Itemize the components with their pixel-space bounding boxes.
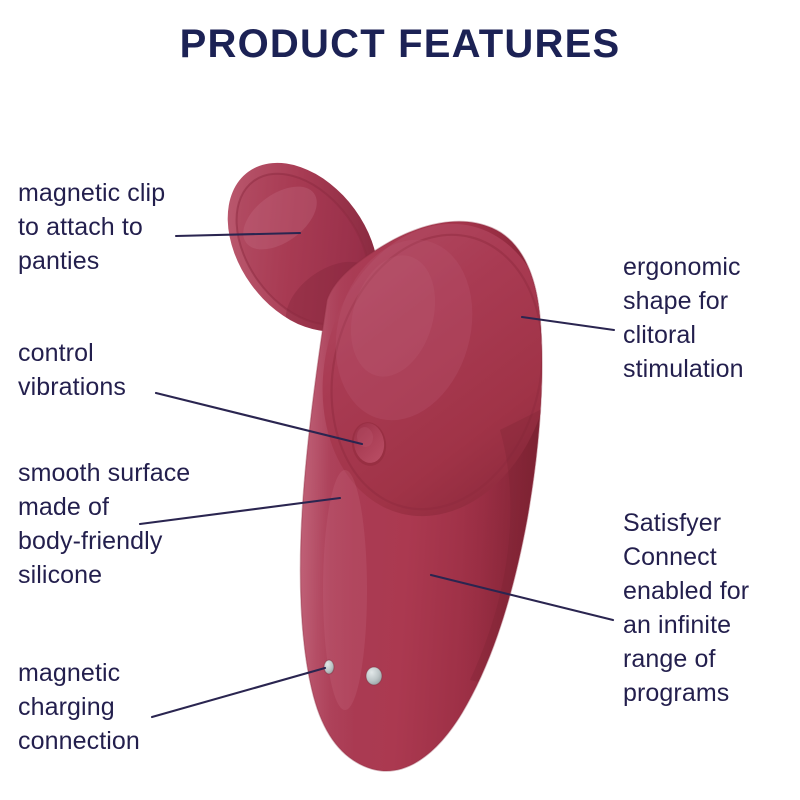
callout-satisfyer-connect: Satisfyer Connect enabled for an infinit… (623, 506, 749, 710)
callout-smooth-surface: smooth surface made of body-friendly sil… (18, 456, 190, 592)
callout-control-vibrations: control vibrations (18, 336, 126, 404)
callout-magnetic-charging: magnetic charging connection (18, 656, 140, 758)
charging-contact-left (324, 660, 334, 674)
main-body (293, 199, 582, 800)
callout-ergonomic-shape: ergonomic shape for clitoral stimulation (623, 250, 744, 386)
product-features-infographic: PRODUCT FEATURES (0, 0, 800, 800)
callout-magnetic-clip: magnetic clip to attach to panties (18, 176, 165, 278)
charging-contact-right (366, 667, 382, 685)
